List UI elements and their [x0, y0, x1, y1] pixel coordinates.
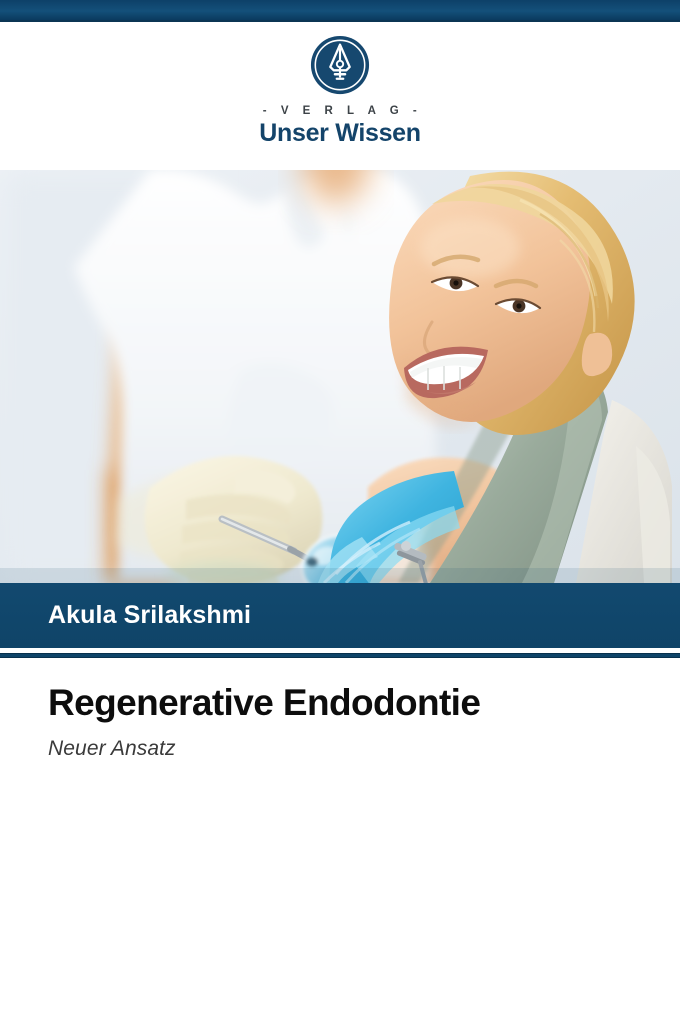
title-block: Regenerative Endodontie Neuer Ansatz — [48, 682, 648, 761]
publisher-logo: - V E R L A G - Unser Wissen — [0, 34, 680, 148]
publisher-name: Unser Wissen — [0, 119, 680, 148]
cover-photo — [0, 170, 680, 583]
author-name: Akula Srilakshmi — [0, 601, 251, 630]
cover-photo-illustration — [0, 170, 680, 583]
book-subtitle: Neuer Ansatz — [48, 737, 648, 761]
fountain-pen-nib-icon — [309, 34, 371, 96]
top-accent-bar — [0, 0, 680, 20]
book-title: Regenerative Endodontie — [48, 682, 648, 723]
band-divider-rule — [0, 653, 680, 658]
author-band: Akula Srilakshmi — [0, 583, 680, 648]
top-accent-bar-underline — [0, 20, 680, 22]
publisher-prefix-label: - V E R L A G - — [0, 105, 680, 117]
book-cover: - V E R L A G - Unser Wissen — [0, 0, 680, 1020]
